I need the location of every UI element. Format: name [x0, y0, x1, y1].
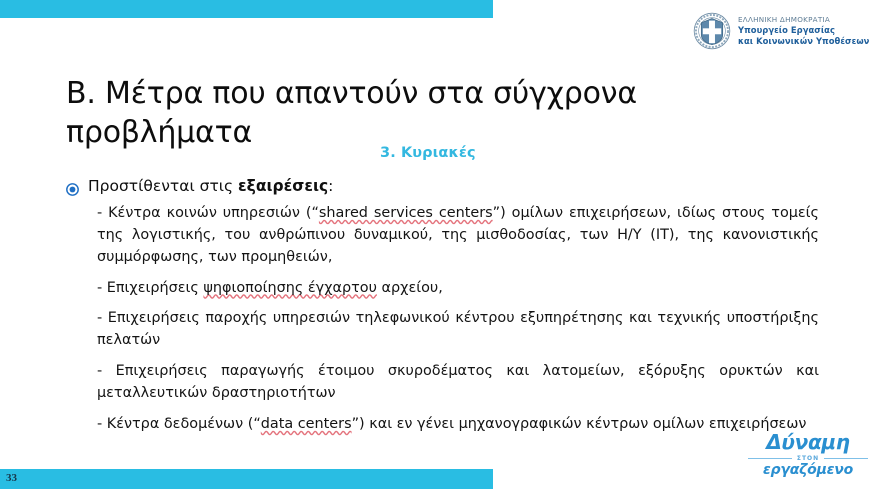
ministry-name-block: ΕΛΛΗΝΙΚΗ ΔΗΜΟΚΡΑΤΙΑ Υπουργείο Εργασίας κ… — [738, 15, 869, 47]
radio-bullet-icon — [66, 181, 79, 194]
list-item-prefix: - Επιχειρήσεις παροχής υπηρεσιών τηλεφων… — [97, 310, 819, 348]
list-item-prefix: - Επιχειρήσεις παραγωγής έτοιμου σκυροδέ… — [97, 363, 819, 401]
bullet-heading-row: Προστίθενται στις εξαιρέσεις: — [66, 176, 820, 197]
ministry-line-affairs: και Κοινωνικών Υποθέσεων — [738, 36, 869, 47]
bullet-text-before: Προστίθενται στις — [88, 177, 238, 195]
brand-word-ston: ΣΤΟΝ — [797, 455, 819, 462]
list-item-prefix: - Επιχειρήσεις — [97, 280, 203, 296]
list-item-suffix: ”) και εν γένει μηχανογραφικών κέντρων ο… — [352, 416, 807, 432]
ministry-line-republic: ΕΛΛΗΝΙΚΗ ΔΗΜΟΚΡΑΤΙΑ — [738, 15, 869, 25]
top-accent-bar — [0, 0, 493, 18]
slide-body: Προστίθενται στις εξαιρέσεις: - Κέντρα κ… — [66, 176, 820, 439]
list-item: - Κέντρα κοινών υπηρεσιών (“shared servi… — [97, 203, 820, 269]
list-item: - Επιχειρήσεις παραγωγής έτοιμου σκυροδέ… — [97, 361, 820, 405]
bottom-accent-bar — [0, 469, 493, 489]
page-number: 33 — [6, 472, 17, 484]
list-item-prefix: - Κέντρα κοινών υπηρεσιών (“ — [97, 205, 319, 221]
spellcheck-term: shared services centers — [319, 205, 493, 221]
ministry-line-ministry: Υπουργείο Εργασίας — [738, 25, 869, 36]
list-item-prefix: - Κέντρα δεδομένων (“ — [97, 416, 261, 432]
list-item: - Κέντρα δεδομένων (“data centers”) και … — [97, 414, 820, 436]
brand-word-dynami: Δύναμη — [748, 432, 868, 452]
spellcheck-term: data centers — [261, 416, 352, 432]
brand-divider-row: ΣΤΟΝ — [748, 455, 868, 462]
slide-subtitle: 3. Κυριακές — [380, 145, 476, 161]
ministry-logo: ΕΛΛΗΝΙΚΗ ΔΗΜΟΚΡΑΤΙΑ Υπουργείο Εργασίας κ… — [693, 12, 869, 50]
brand-word-ergazomeno: εργαζόμενο — [748, 463, 868, 478]
bullet-text-emphasis: εξαιρέσεις — [238, 177, 328, 195]
slide-title: Β. Μέτρα που απαντούν στα σύγχρονα προβλ… — [66, 74, 706, 152]
list-item: - Επιχειρήσεις ψηφιοποίησης έγχαρτου αρχ… — [97, 278, 820, 300]
presentation-slide: ΕΛΛΗΝΙΚΗ ΔΗΜΟΚΡΑΤΙΑ Υπουργείο Εργασίας κ… — [0, 0, 880, 489]
greek-coat-of-arms-icon — [693, 12, 731, 50]
bullet-text-after: : — [328, 177, 333, 195]
brand-rule-left — [748, 458, 792, 459]
brand-rule-right — [824, 458, 868, 459]
campaign-brand-logo: Δύναμη ΣΤΟΝ εργαζόμενο — [748, 432, 868, 478]
bullet-heading-text: Προστίθενται στις εξαιρέσεις: — [88, 176, 333, 197]
spellcheck-term: ψηφιοποίησης έγχαρτου — [203, 280, 377, 296]
list-item-suffix: αρχείου, — [377, 280, 443, 296]
list-item: - Επιχειρήσεις παροχής υπηρεσιών τηλεφων… — [97, 308, 820, 352]
